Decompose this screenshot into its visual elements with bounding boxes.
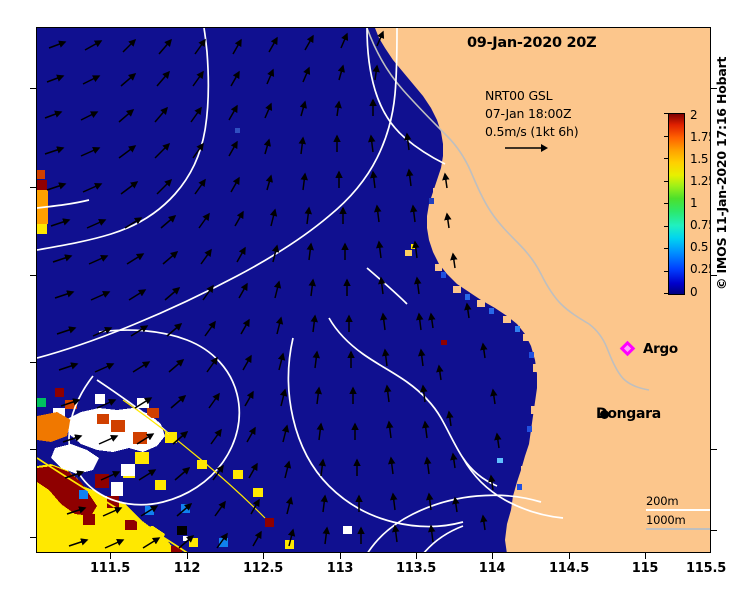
dongara-label: Dongara [596, 406, 661, 422]
vector-legend-source: NRT00 GSL [485, 87, 578, 105]
imos-sst-age-map: 09-Jan-2020 20Z NRT00 GSL 07-Jan 18:00Z … [0, 0, 739, 592]
colorbar-tick-025: 0.25 [690, 262, 711, 276]
colorbar-gradient [668, 113, 685, 295]
vector-legend-arrow-icon [485, 141, 555, 155]
vector-legend-time: 07-Jan 18:00Z [485, 105, 578, 123]
colorbar-tick-15: 1.5 [690, 152, 708, 166]
x-tick-label-1115: 111.5 [80, 561, 140, 576]
x-tick-label-1145: 114.5 [539, 561, 599, 576]
x-tick-label-114: 114 [462, 561, 522, 576]
colorbar-tick-0: 0 [690, 285, 697, 299]
vector-legend: NRT00 GSL 07-Jan 18:00Z 0.5m/s (1kt 6h) [485, 87, 578, 160]
colorbar: 2 1.75 1.5 1.25 1 0.75 0.5 0.25 0 [668, 113, 685, 295]
x-tick-label-1125: 112.5 [233, 561, 293, 576]
contour-key-200m-line [646, 509, 711, 511]
x-tick-label-113: 113 [310, 561, 370, 576]
contour-key-1000m: 1000m [646, 513, 711, 527]
colorbar-tick-2: 2 [690, 108, 697, 122]
colorbar-tick-075: 0.75 [690, 218, 711, 232]
x-tick-label-115: 115 [615, 561, 675, 576]
x-tick-label-112: 112 [157, 561, 217, 576]
contour-key-200m: 200m [646, 494, 711, 508]
contour-key-1000m-line [646, 528, 711, 530]
colorbar-tick-1: 1 [690, 196, 697, 210]
map-plot-area[interactable]: 09-Jan-2020 20Z NRT00 GSL 07-Jan 18:00Z … [36, 27, 711, 553]
argo-label: Argo [643, 341, 678, 357]
vector-legend-scale: 0.5m/s (1kt 6h) [485, 123, 578, 141]
x-tick-label-1135: 113.5 [386, 561, 446, 576]
colorbar-tick-175: 1.75 [690, 130, 711, 144]
map-title-date: 09-Jan-2020 20Z [467, 35, 596, 51]
imos-credit: © IMOS 11-Jan-2020 17:16 Hobart [714, 57, 729, 290]
colorbar-title: Age (days) of filled SST (wrt latest) [709, 103, 711, 303]
bathymetry-contour-key: 200m 1000m [646, 494, 711, 530]
colorbar-tick-05: 0.5 [690, 240, 708, 254]
colorbar-tick-125: 1.25 [690, 174, 711, 188]
x-tick-label-1155: 115.5 [676, 561, 736, 576]
map-canvas [37, 28, 711, 553]
